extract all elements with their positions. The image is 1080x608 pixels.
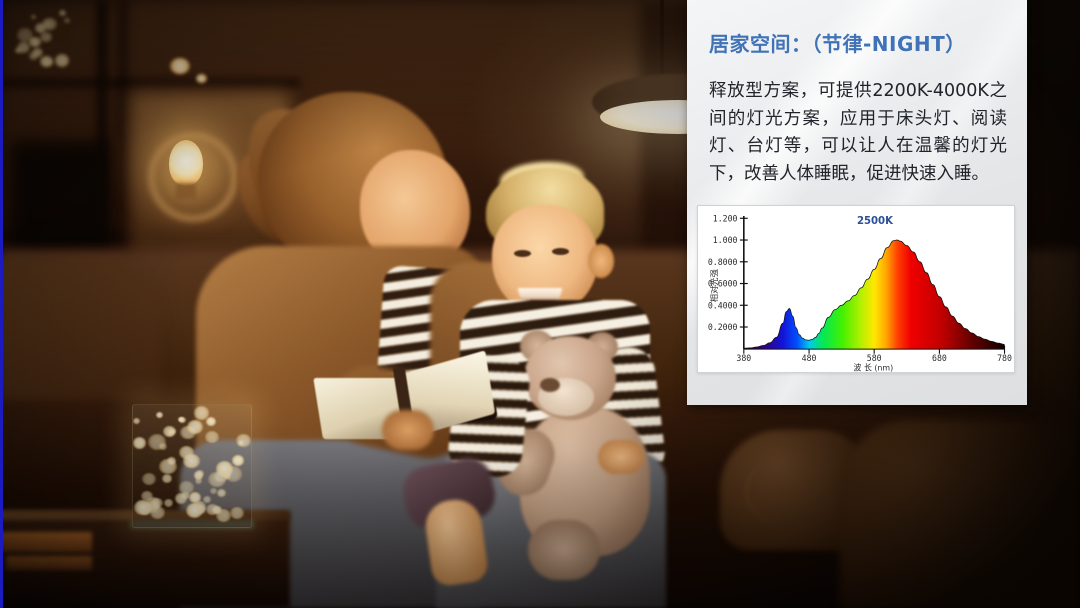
chart-x-axis-title: 波 长 (nm) (854, 362, 894, 372)
vase-fairy-light-dot (164, 499, 173, 507)
panel-body-text: 释放型方案，可提供2200K-4000K之间的灯光方案，应用于床头灯、阅读灯、台… (709, 78, 1007, 189)
vase-fairy-light-dot (230, 507, 244, 519)
boy-ear (588, 244, 614, 278)
chart-y-axis-title: 相对光强 (709, 269, 719, 302)
teddy-leg (528, 520, 600, 580)
vase-fairy-light-dot (187, 420, 203, 434)
fairy-light-dot (15, 48, 22, 54)
x-tick-label: 480 (802, 353, 817, 363)
sofa-cushion-far-right (840, 420, 1080, 608)
fairy-light-dot (17, 28, 33, 42)
vase-fairy-light-dot (186, 503, 203, 518)
vase-fairy-light-dot (206, 417, 216, 426)
glass-vase-with-fairy-lights (132, 404, 252, 528)
spectrum-chart: 2500K 1.200 1.000 0.8000 0.6000 0.400 (698, 206, 1014, 372)
vase-fairy-light-dot (175, 493, 187, 504)
fairy-light-dot (55, 54, 69, 66)
vase-fairy-light-dot (183, 454, 200, 469)
slide-root: 居家空间：（节律-NIGHT） 释放型方案，可提供2200K-4000K之间的灯… (0, 0, 1080, 608)
table-book-upper (0, 532, 92, 552)
left-edge-strip (0, 0, 3, 608)
pendant-lamp-rod (660, 0, 664, 84)
info-panel: 居家空间：（节律-NIGHT） 释放型方案，可提供2200K-4000K之间的灯… (687, 0, 1027, 405)
boy-hand (598, 440, 644, 474)
fairy-light-dot (43, 20, 52, 28)
y-tick-label: 1.000 (713, 235, 738, 245)
vase-fairy-light-dot (142, 473, 156, 486)
vase-fairy-light-dot (179, 417, 186, 423)
teddy-nose (540, 378, 560, 392)
vase-fairy-light-dot (225, 466, 242, 481)
fairy-light-dot (32, 48, 44, 58)
fairy-light-dot (64, 18, 70, 23)
fairy-light-dot (59, 10, 66, 16)
vase-fairy-light-dot (133, 418, 140, 424)
shelf-dark-object (10, 140, 110, 260)
vase-fairy-light-dot (148, 434, 166, 450)
y-tick-label: 0.2000 (708, 322, 738, 332)
boy-eye-right (552, 248, 569, 255)
x-tick-label: 780 (997, 353, 1012, 363)
x-tick-label: 380 (736, 353, 751, 363)
chart-title: 2500K (857, 215, 894, 227)
shelf-horizontal-upper (0, 78, 300, 88)
vase-fairy-light-dot (162, 474, 172, 483)
vase-fairy-light-dot (216, 509, 231, 523)
vase-fairy-light-dot (210, 488, 217, 494)
woman-hand (382, 410, 434, 450)
table-lamp-base (176, 183, 196, 199)
y-tick-label: 0.8000 (708, 256, 738, 266)
panel-title: 居家空间：（节律-NIGHT） (709, 32, 1007, 56)
vase-fairy-light-dot (195, 478, 202, 484)
y-tick-label: 1.200 (713, 213, 738, 223)
vase-fairy-light-dot (133, 437, 146, 449)
vase-fairy-light-dot (232, 455, 245, 466)
vase-fairy-light-dot (156, 412, 163, 418)
vase-fairy-light-dot (189, 492, 201, 503)
x-tick-label: 680 (932, 353, 947, 363)
boy-eye-left (514, 250, 531, 257)
vase-fairy-light-dot (205, 431, 219, 443)
spectrum-chart-card: 2500K 1.200 1.000 0.8000 0.6000 0.400 (697, 205, 1015, 373)
cushion-seam (745, 455, 842, 527)
info-panel-content: 居家空间：（节律-NIGHT） 释放型方案，可提供2200K-4000K之间的灯… (687, 0, 1027, 189)
shelf-glow-orb (170, 58, 190, 74)
vase-fairy-light-dot (167, 457, 176, 465)
vase-fairy-light-dot (208, 472, 226, 488)
fairy-light-dot (48, 60, 54, 65)
table-book-lower (6, 556, 92, 570)
shelf-fairy-lights (14, 6, 76, 76)
fairy-light-dot (31, 15, 36, 20)
vase-fairy-light-dot (217, 489, 226, 497)
table-lamp-bulb (169, 140, 203, 186)
fairy-light-dot (40, 32, 52, 42)
vase-fairy-light-dot (196, 470, 204, 477)
shelf-glow-orb-small (196, 74, 207, 83)
